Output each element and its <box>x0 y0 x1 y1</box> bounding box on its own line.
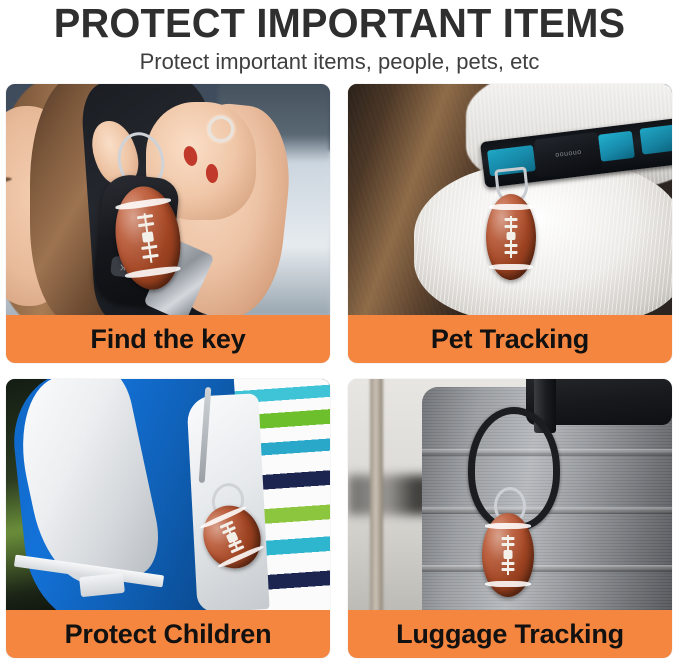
football-stripe-top <box>489 204 533 210</box>
football-tracker <box>486 194 536 280</box>
woman-eyebrow <box>6 176 12 186</box>
photo-find-the-key: LOCK <box>6 84 330 315</box>
feature-card-pet-tracking[interactable]: ononoo Pet Tracking <box>348 84 672 363</box>
football-lace-center-square <box>142 231 154 242</box>
photo-pet-tracking: ononoo <box>348 84 672 315</box>
caption-bar-protect-children: Protect Children <box>6 610 330 658</box>
page-subtitle: Protect important items, people, pets, e… <box>0 44 679 77</box>
football-stripe-bottom <box>485 581 531 587</box>
fingernail-icon <box>182 145 199 168</box>
dog-fur-chest <box>414 162 672 315</box>
caption-bar-find-the-key: Find the key <box>6 315 330 363</box>
feature-card-find-the-key[interactable]: LOCK Find the key <box>6 84 330 363</box>
football-tracker <box>482 513 534 597</box>
background-pole <box>370 379 383 610</box>
feature-card-grid: LOCK Find the key <box>6 84 673 658</box>
collar-buckle: ononoo <box>534 132 602 178</box>
page-title: PROTECT IMPORTANT ITEMS <box>10 2 669 44</box>
football-stripe-top <box>115 196 172 211</box>
fingernail-icon <box>205 163 219 183</box>
football-lace-bar <box>502 568 515 571</box>
caption-label: Pet Tracking <box>431 324 589 354</box>
photo-protect-children <box>6 379 330 610</box>
caption-bar-luggage-tracking: Luggage Tracking <box>348 610 672 658</box>
collar-brand-label: ononoo <box>536 146 600 161</box>
football-lace-bar <box>502 537 515 540</box>
caption-label: Find the key <box>90 324 245 354</box>
feature-card-luggage-tracking[interactable]: Luggage Tracking <box>348 379 672 658</box>
suitcase-ridge <box>422 565 672 572</box>
football-lace-bar <box>505 218 518 221</box>
football-lace-bar <box>505 225 518 228</box>
football-stripe-bottom <box>489 264 533 270</box>
football-lace-bar <box>502 543 515 546</box>
football-lace-center-square <box>507 232 516 240</box>
football-lace-bar <box>502 562 515 565</box>
finger-ring-icon <box>208 116 234 142</box>
page-header: PROTECT IMPORTANT ITEMS Protect importan… <box>0 0 679 77</box>
caption-label: Protect Children <box>65 619 272 649</box>
football-stripe-top <box>485 523 531 529</box>
football-lace-center-square <box>504 550 513 559</box>
photo-luggage-tracking <box>348 379 672 610</box>
collar-teal-panel <box>598 131 635 162</box>
football-lace-bar <box>505 244 518 247</box>
football-lace-bar <box>505 251 518 254</box>
feature-card-protect-children[interactable]: Protect Children <box>6 379 330 658</box>
collar-teal-panel <box>639 124 672 154</box>
caption-bar-pet-tracking: Pet Tracking <box>348 315 672 363</box>
caption-label: Luggage Tracking <box>396 619 624 649</box>
